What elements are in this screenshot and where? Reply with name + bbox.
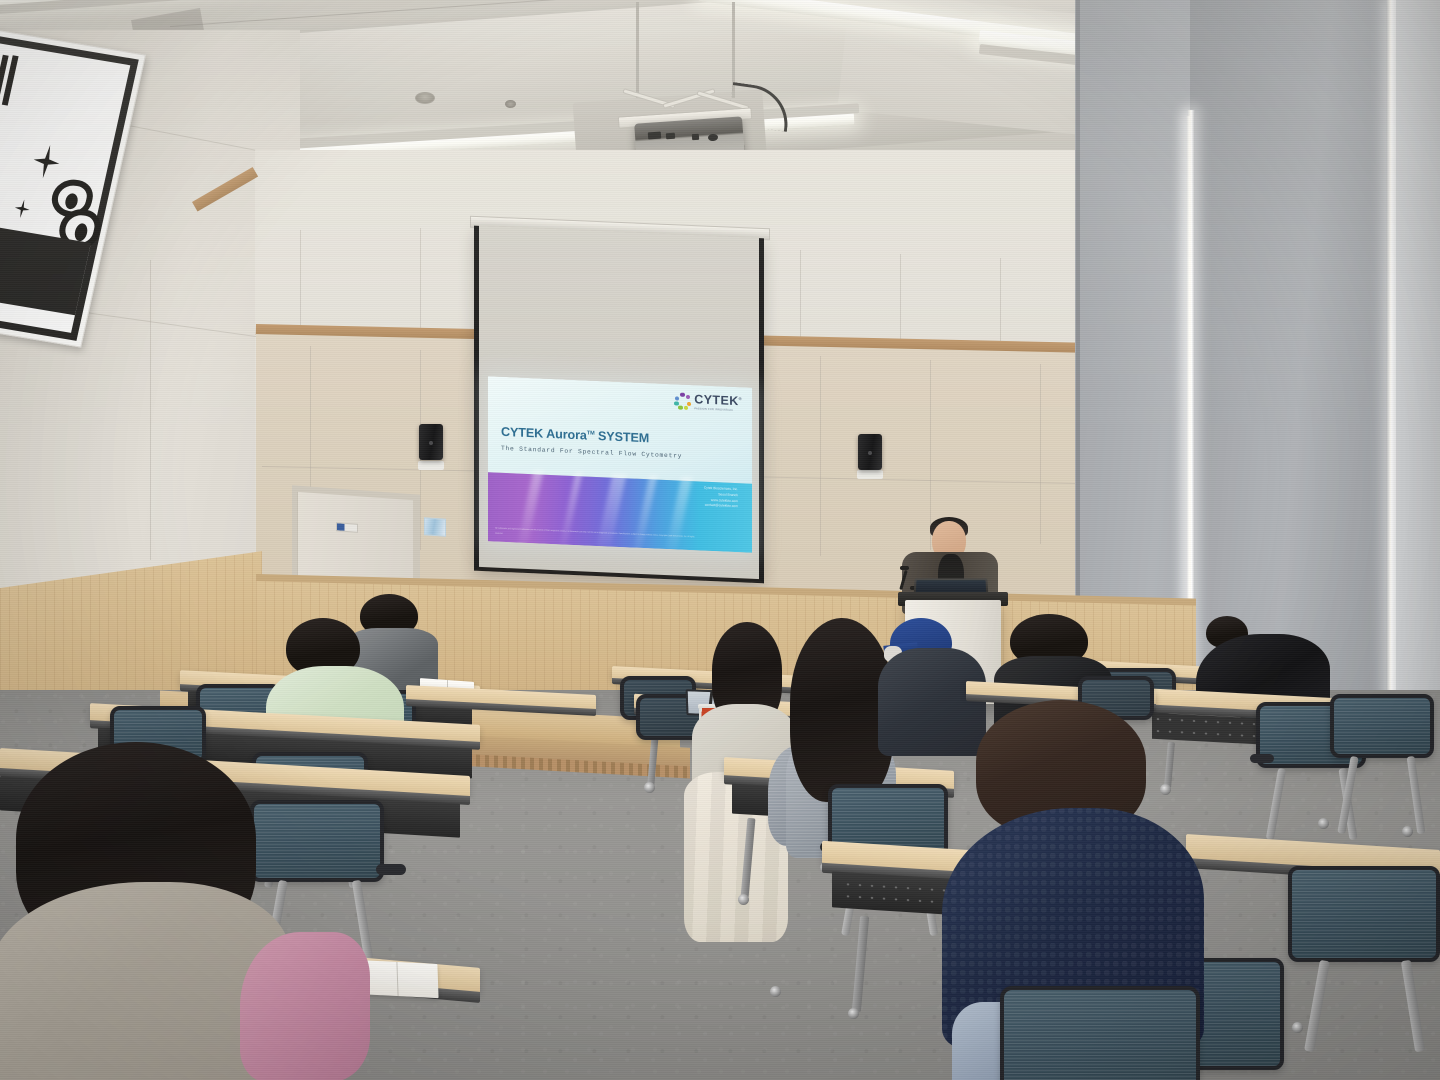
- projector-cable: [727, 82, 792, 132]
- projected-slide: CYTEK® PASSION FOR INNOVATION CYTEK Auro…: [488, 376, 752, 553]
- wall-speaker: [419, 424, 443, 460]
- cytek-logo: CYTEK® PASSION FOR INNOVATION: [674, 392, 742, 412]
- wall-light-slit: [1187, 110, 1195, 680]
- light-switch-panel[interactable]: [424, 517, 446, 537]
- slide-contact-block: Cytek Biosciences, Inc. Seoul Branch www…: [704, 486, 738, 511]
- smoke-detector-icon: [505, 100, 516, 108]
- cytek-logo-dots-icon: [674, 392, 691, 410]
- door-sign: [336, 522, 358, 533]
- slide-title-suffix: SYSTEM: [598, 429, 649, 445]
- cytek-logo-text: CYTEK: [694, 392, 738, 408]
- wall-speaker: [858, 434, 882, 470]
- cytek-logo-registered: ®: [739, 396, 742, 401]
- sparkle-icon: [13, 198, 32, 219]
- student-sleeve: [240, 932, 370, 1080]
- sprinkler-head-icon: [415, 92, 435, 104]
- banner-headline: 제: [0, 49, 21, 110]
- student-hoodie: [878, 648, 986, 756]
- slide-title-trademark: TM: [587, 430, 595, 436]
- lecture-hall-photo: 제 실: [0, 0, 1440, 1080]
- sparkle-icon: [30, 143, 63, 180]
- wall-light-slit: [1386, 0, 1396, 770]
